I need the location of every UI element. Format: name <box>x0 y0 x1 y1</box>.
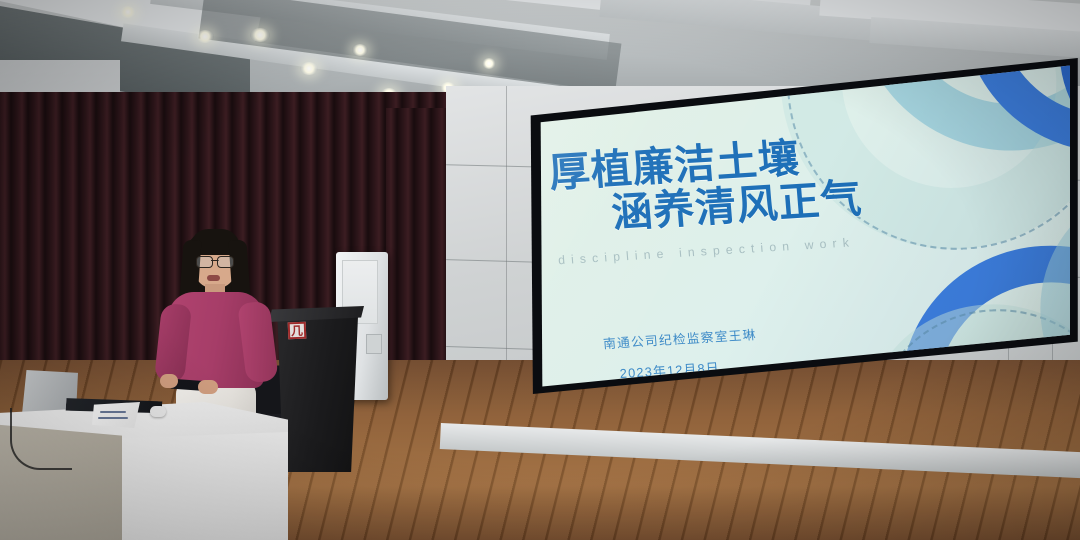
downlight <box>352 44 368 56</box>
led-display[interactable]: 几 厚植廉洁土壤 涵养清风正气 discipline inspection wo… <box>524 56 1080 396</box>
presenter-hand <box>198 380 218 394</box>
name-card-text-line <box>100 411 126 413</box>
marble-seam <box>506 86 507 386</box>
downlight <box>300 62 318 75</box>
front-desk-panel <box>118 432 288 540</box>
desk-cable <box>10 408 72 470</box>
glasses-icon <box>196 256 234 266</box>
slide-title-block: 厚植廉洁土壤 涵养清风正气 discipline inspection work <box>547 128 970 268</box>
glasses-lens <box>217 256 234 268</box>
downlight <box>196 30 214 43</box>
presenter-hand <box>160 374 178 388</box>
downlight <box>120 6 136 18</box>
company-logo: 几 <box>524 56 567 99</box>
downlight <box>482 58 496 69</box>
slide-presenter-line: 南通公司纪检监察室王琳 <box>602 324 757 353</box>
podium-logo: 几 <box>288 322 307 340</box>
name-card-text-line <box>98 417 128 419</box>
glasses-lens <box>196 256 213 268</box>
presenter-mouth <box>207 275 220 281</box>
company-logo-glyph: 几 <box>527 60 558 92</box>
downlight <box>250 28 270 42</box>
conference-room-scene: 几 厚植廉洁土壤 涵养清风正气 discipline inspection wo… <box>0 0 1080 540</box>
mouse[interactable] <box>150 406 166 417</box>
ac-control-panel[interactable] <box>366 334 382 354</box>
name-card-holder <box>92 402 140 428</box>
